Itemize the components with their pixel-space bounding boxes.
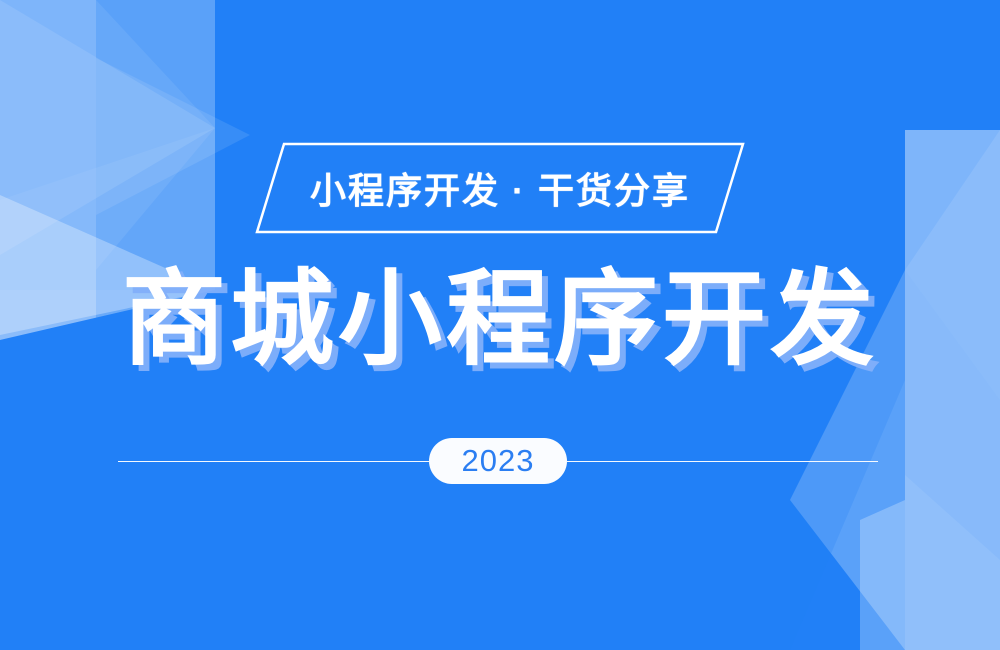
- left-triangle-upper: [0, 0, 215, 255]
- promo-banner: 小程序开发 · 干货分享 商城小程序开发 2023: [0, 0, 1000, 650]
- divider-line-left: [118, 461, 429, 462]
- left-triangle-wedge: [96, 0, 215, 270]
- right-band-light: [905, 130, 1000, 650]
- kicker-text: 小程序开发 · 干货分享: [255, 142, 745, 234]
- divider-line-right: [567, 461, 878, 462]
- kicker-banner: 小程序开发 · 干货分享: [255, 142, 745, 234]
- left-triangle-point: [96, 58, 250, 215]
- year-badge: 2023: [429, 438, 567, 484]
- right-band-mid: [860, 500, 905, 650]
- page-title: 商城小程序开发: [0, 268, 1000, 372]
- divider-with-year: 2023: [118, 437, 878, 485]
- right-triangle-lower: [905, 475, 1000, 650]
